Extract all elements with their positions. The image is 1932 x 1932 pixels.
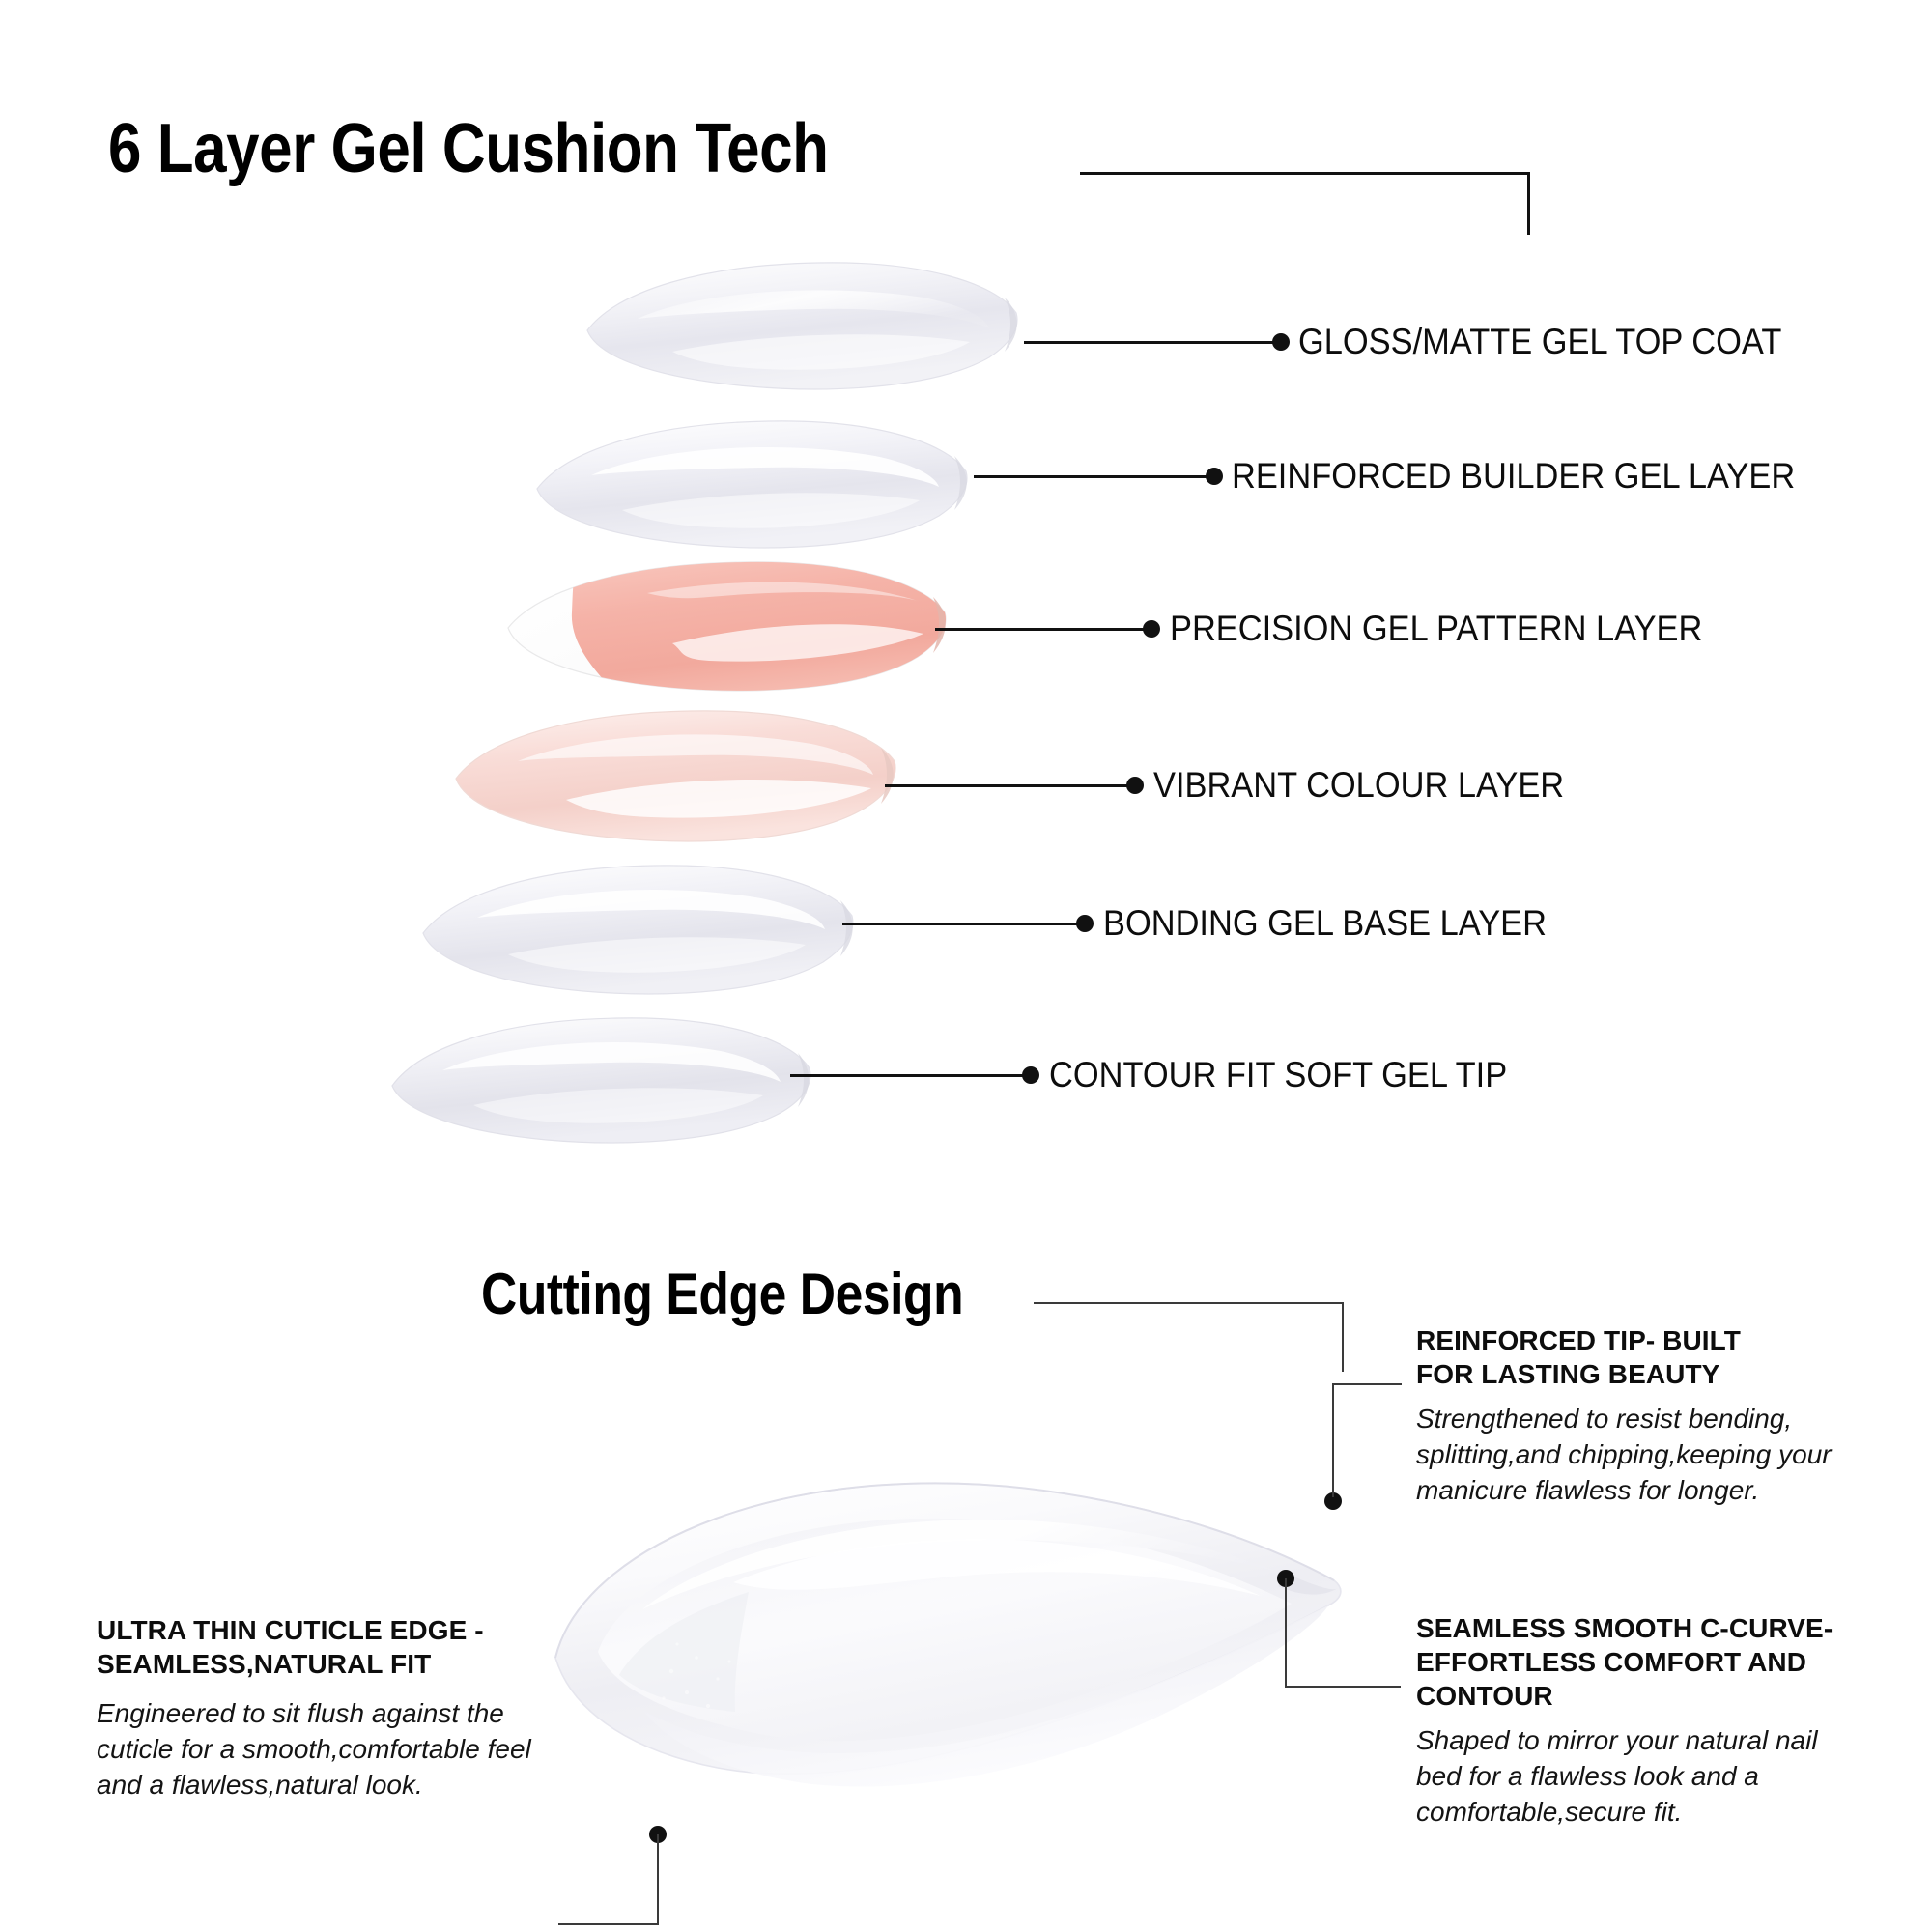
callout-body-line: Shaped to mirror your natural nail (1416, 1722, 1889, 1758)
callout-body-seamless-c-curve: Shaped to mirror your natural nail bed f… (1416, 1722, 1889, 1830)
leader-line-gloss-matte-gel-top-coat (1024, 341, 1280, 344)
leader-dot-vibrant-colour-layer (1126, 777, 1144, 794)
cutting-title-connector-vertical (1342, 1302, 1344, 1372)
nail-tip-contour-fit-soft-gel-tip (384, 1012, 819, 1150)
callout-body-line: and a flawless,natural look. (97, 1767, 551, 1803)
leader-line-reinforced-builder-gel-layer (974, 475, 1213, 478)
nail-tip-reinforced-builder-gel-layer (529, 417, 974, 553)
callout-body-line: splitting,and chipping,keeping your (1416, 1436, 1880, 1472)
layer-label-precision-gel-pattern-layer: PRECISION GEL PATTERN LAYER (1170, 610, 1702, 648)
leader-dot-precision-gel-pattern-layer (1143, 620, 1160, 638)
leader-line-vibrant-colour-layer (885, 784, 1134, 787)
nail-tip-gloss-matte-gel-top-coat (580, 259, 1024, 394)
layer-label-gloss-matte-gel-top-coat: GLOSS/MATTE GEL TOP COAT (1298, 323, 1781, 361)
infographic-canvas: 6 Layer Gel Cushion Tech (0, 0, 1932, 1932)
callout-line-ultra-thin-cuticle-edge-vertical (657, 1834, 659, 1924)
leader-dot-gloss-matte-gel-top-coat (1272, 333, 1290, 351)
nail-tip-bonding-gel-base-layer (415, 862, 860, 999)
leader-line-precision-gel-pattern-layer (935, 628, 1151, 631)
callout-heading-ultra-thin-cuticle-edge: ULTRA THIN CUTICLE EDGE - SEAMLESS,NATUR… (97, 1613, 551, 1681)
page-title-layers: 6 Layer Gel Cushion Tech (108, 112, 829, 185)
callout-heading-line: SEAMLESS SMOOTH C-CURVE- (1416, 1611, 1880, 1645)
leader-dot-bonding-gel-base-layer (1076, 915, 1094, 932)
callout-line-ultra-thin-cuticle-edge-horizontal (558, 1923, 659, 1925)
layer-label-reinforced-builder-gel-layer: REINFORCED BUILDER GEL LAYER (1232, 457, 1795, 496)
callout-line-reinforced-tip-horizontal (1332, 1383, 1402, 1385)
cutting-title-connector-horizontal (1034, 1302, 1343, 1304)
layer-label-vibrant-colour-layer: VIBRANT COLOUR LAYER (1153, 766, 1564, 805)
callout-body-line: bed for a flawless look and a (1416, 1758, 1889, 1794)
callout-heading-line: ULTRA THIN CUTICLE EDGE - (97, 1613, 551, 1647)
hero-nail-illustration (526, 1468, 1357, 1845)
callout-heading-line: FOR LASTING BEAUTY (1416, 1357, 1861, 1391)
callout-body-line: manicure flawless for longer. (1416, 1472, 1880, 1508)
callout-heading-line: EFFORTLESS COMFORT AND (1416, 1645, 1880, 1679)
leader-dot-reinforced-builder-gel-layer (1206, 468, 1223, 485)
layer-label-bonding-gel-base-layer: BONDING GEL BASE LAYER (1103, 904, 1547, 943)
callout-heading-line: REINFORCED TIP- BUILT (1416, 1323, 1861, 1357)
callout-body-line: cuticle for a smooth,comfortable feel (97, 1731, 551, 1767)
callout-line-reinforced-tip-vertical (1332, 1383, 1334, 1497)
callout-heading-line: CONTOUR (1416, 1679, 1880, 1713)
nail-tip-vibrant-colour-layer (450, 707, 904, 850)
callout-heading-line: SEAMLESS,NATURAL FIT (97, 1647, 551, 1681)
callout-body-line: comfortable,secure fit. (1416, 1794, 1889, 1830)
callout-line-seamless-c-curve-horizontal (1285, 1686, 1401, 1688)
leader-line-bonding-gel-base-layer (842, 923, 1084, 925)
layer-label-contour-fit-soft-gel-tip: CONTOUR FIT SOFT GEL TIP (1049, 1056, 1507, 1094)
callout-body-line: Engineered to sit flush against the (97, 1695, 551, 1731)
leader-dot-contour-fit-soft-gel-tip (1022, 1066, 1039, 1084)
leader-line-contour-fit-soft-gel-tip (790, 1074, 1030, 1077)
callout-body-ultra-thin-cuticle-edge: Engineered to sit flush against the cuti… (97, 1695, 551, 1803)
callout-heading-seamless-c-curve: SEAMLESS SMOOTH C-CURVE- EFFORTLESS COMF… (1416, 1611, 1880, 1713)
nail-tip-precision-gel-pattern-layer (502, 558, 956, 698)
callout-line-seamless-c-curve-vertical (1285, 1578, 1287, 1687)
callout-body-reinforced-tip: Strengthened to resist bending, splittin… (1416, 1401, 1880, 1508)
page-title-cutting-edge: Cutting Edge Design (481, 1264, 963, 1325)
title-connector-horizontal (1080, 172, 1530, 175)
callout-heading-reinforced-tip: REINFORCED TIP- BUILT FOR LASTING BEAUTY (1416, 1323, 1861, 1391)
callout-body-line: Strengthened to resist bending, (1416, 1401, 1880, 1436)
title-connector-vertical (1527, 172, 1530, 235)
